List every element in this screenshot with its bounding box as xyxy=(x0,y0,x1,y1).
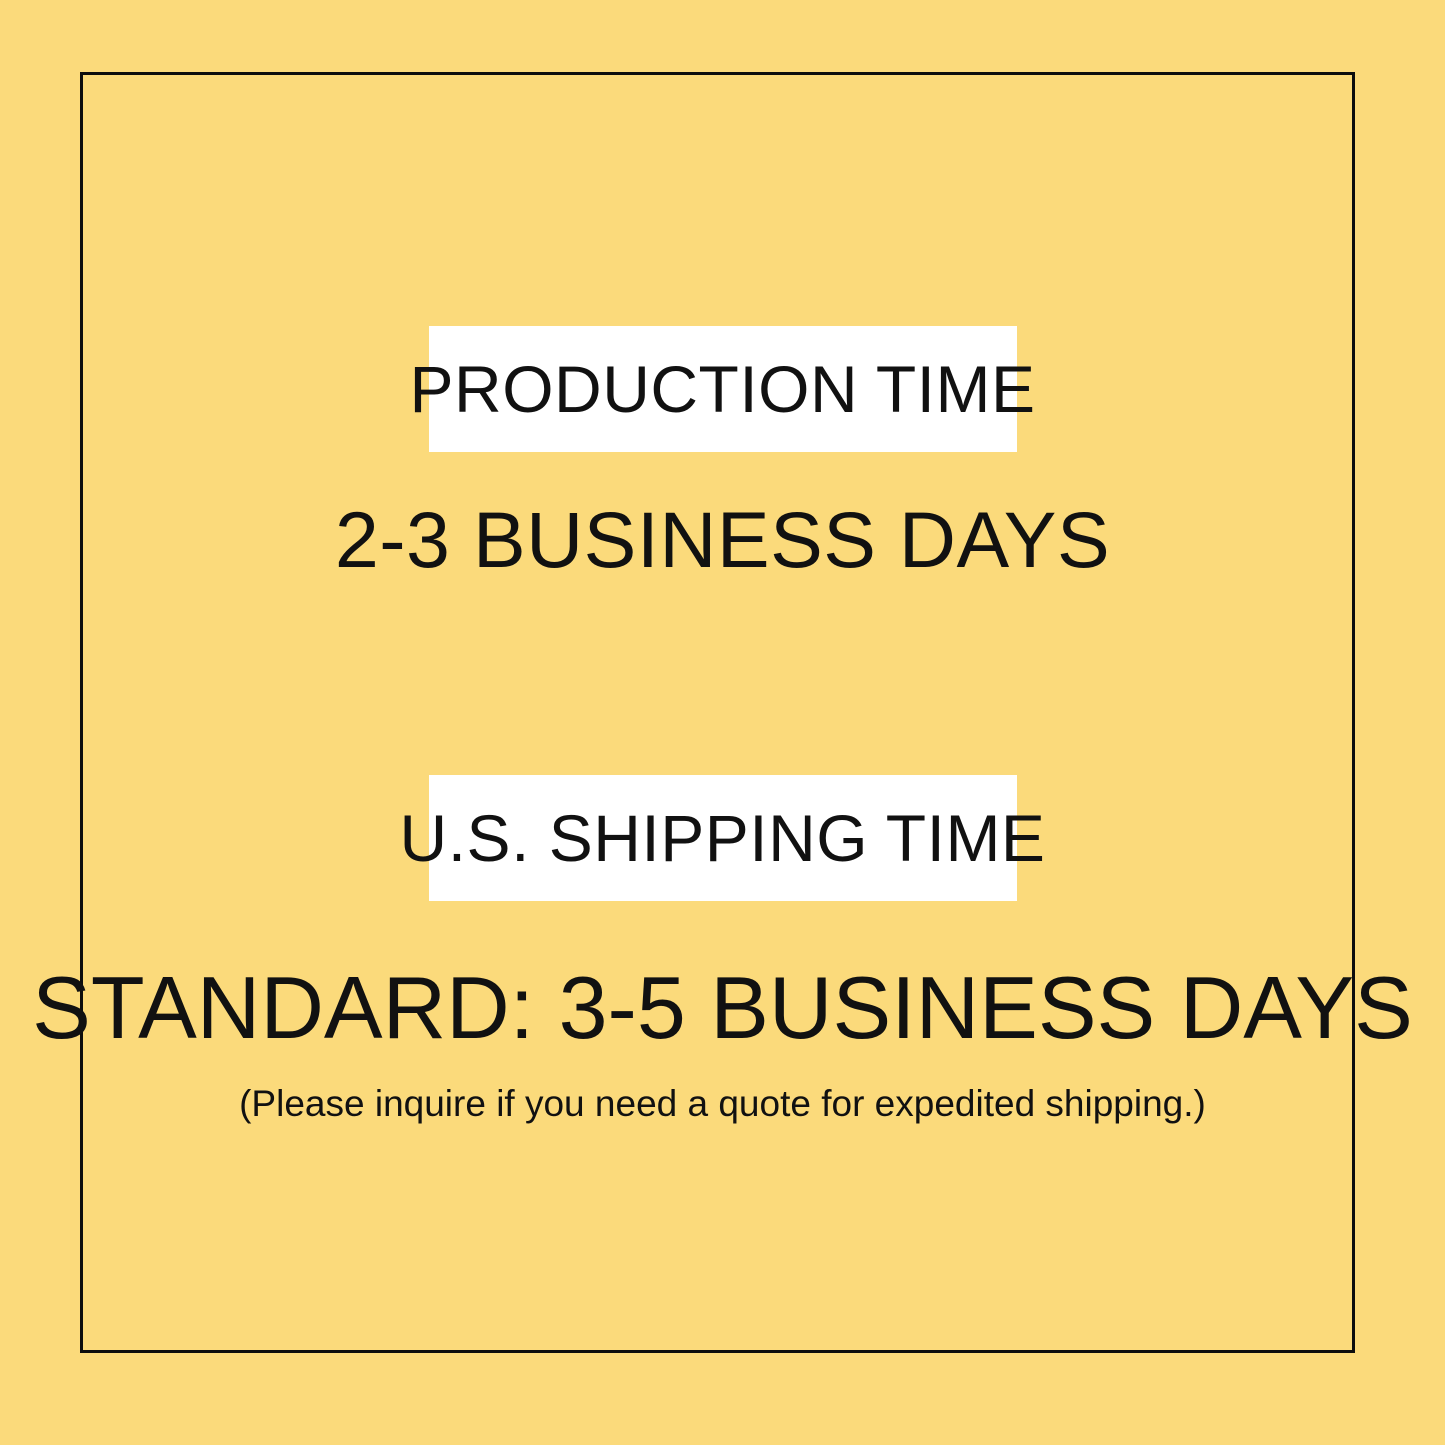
us-shipping-time-heading-label: U.S. SHIPPING TIME xyxy=(400,805,1046,871)
us-shipping-time-value: STANDARD: 3-5 BUSINESS DAYS xyxy=(32,964,1413,1052)
expedited-shipping-note: (Please inquire if you need a quote for … xyxy=(239,1085,1206,1122)
production-time-heading-box: PRODUCTION TIME xyxy=(429,326,1017,452)
production-time-value: 2-3 BUSINESS DAYS xyxy=(335,500,1110,579)
shipping-info-graphic: PRODUCTION TIME 2-3 BUSINESS DAYS U.S. S… xyxy=(0,0,1445,1445)
info-content-stack: PRODUCTION TIME 2-3 BUSINESS DAYS U.S. S… xyxy=(0,0,1445,1445)
production-time-heading-label: PRODUCTION TIME xyxy=(410,356,1036,422)
us-shipping-time-heading-box: U.S. SHIPPING TIME xyxy=(429,775,1017,901)
